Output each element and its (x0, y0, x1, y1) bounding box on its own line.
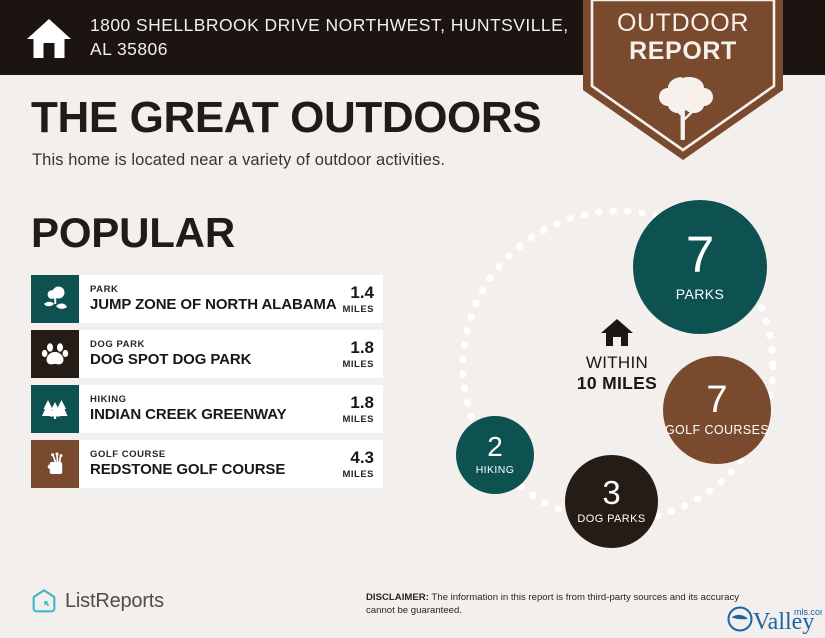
distance-unit: MILES (342, 359, 374, 370)
bubble-count: 7 (686, 231, 714, 280)
distance-unit: MILES (342, 414, 374, 425)
valley-mls-icon: Valley mls.com (726, 602, 822, 636)
distance-unit: MILES (342, 304, 374, 315)
home-icon (26, 17, 72, 59)
list-item-distance: 1.8 MILES (342, 385, 383, 433)
pine-trees-icon (31, 385, 79, 433)
property-address: 1800 SHELLBROOK DRIVE NORTHWEST, HUNTSVI… (90, 14, 570, 60)
outdoor-report-badge: OUTDOOR REPORT (583, 0, 783, 162)
bubble-count: 7 (706, 382, 727, 418)
popular-list: PARK JUMP ZONE OF NORTH ALABAMA 1.4 MILE… (31, 275, 383, 495)
list-item-name: DOG SPOT DOG PARK (90, 352, 342, 368)
list-item[interactable]: HIKING INDIAN CREEK GREENWAY 1.8 MILES (31, 385, 383, 433)
center-line-2: 10 MILES (542, 373, 692, 394)
disclaimer-label: DISCLAIMER: (366, 592, 429, 603)
list-item[interactable]: PARK JUMP ZONE OF NORTH ALABAMA 1.4 MILE… (31, 275, 383, 323)
list-item-category: HIKING (90, 395, 342, 406)
list-item-category: DOG PARK (90, 340, 342, 351)
list-item-category: GOLF COURSE (90, 450, 342, 461)
list-item-category: PARK (90, 285, 342, 296)
bubble-label: PARKS (676, 287, 724, 302)
bubble-label: DOG PARKS (577, 514, 645, 526)
park-tree-icon (31, 275, 79, 323)
distance-value: 4.3 (350, 449, 374, 466)
home-icon (600, 318, 634, 347)
listreports-logo[interactable]: ListReports (31, 588, 164, 614)
disclaimer: DISCLAIMER: The information in this repo… (366, 591, 766, 617)
list-item-distance: 1.4 MILES (342, 275, 383, 323)
popular-heading: POPULAR (31, 212, 235, 254)
bubble-count: 2 (487, 434, 503, 461)
list-item-distance: 1.8 MILES (342, 330, 383, 378)
shield-shape (583, 0, 783, 162)
page-title: THE GREAT OUTDOORS (31, 96, 541, 140)
bubble-parks: 7 PARKS (633, 200, 767, 334)
bubble-label: HIKING (476, 465, 515, 476)
distance-unit: MILES (342, 469, 374, 480)
bubble-hiking: 2 HIKING (456, 416, 534, 494)
golf-bag-icon (31, 440, 79, 488)
bubble-dog-parks: 3 DOG PARKS (565, 455, 658, 548)
bubble-count: 3 (602, 477, 620, 509)
listreports-name: ListReports (65, 590, 164, 613)
list-item-distance: 4.3 MILES (342, 440, 383, 488)
svg-text:mls.com: mls.com (794, 607, 822, 617)
page-subtitle: This home is located near a variety of o… (32, 151, 445, 170)
list-item-name: REDSTONE GOLF COURSE (90, 462, 342, 478)
paw-print-icon (31, 330, 79, 378)
valley-mls-logo: Valley mls.com (726, 602, 822, 636)
list-item-name: INDIAN CREEK GREENWAY (90, 407, 342, 423)
within-10-miles-chart: 7 PARKS 7 GOLF COURSES 3 DOG PARKS 2 HIK… (418, 178, 818, 553)
distance-value: 1.4 (350, 284, 374, 301)
center-line-1: WITHIN (542, 353, 692, 373)
chart-center-label: WITHIN 10 MILES (542, 318, 692, 394)
distance-value: 1.8 (350, 394, 374, 411)
list-item[interactable]: GOLF COURSE REDSTONE GOLF COURSE 4.3 MIL… (31, 440, 383, 488)
distance-value: 1.8 (350, 339, 374, 356)
bubble-label: GOLF COURSES (665, 424, 769, 438)
listreports-house-tag-icon (31, 588, 57, 614)
list-item-name: JUMP ZONE OF NORTH ALABAMA (90, 297, 342, 312)
list-item[interactable]: DOG PARK DOG SPOT DOG PARK 1.8 MILES (31, 330, 383, 378)
